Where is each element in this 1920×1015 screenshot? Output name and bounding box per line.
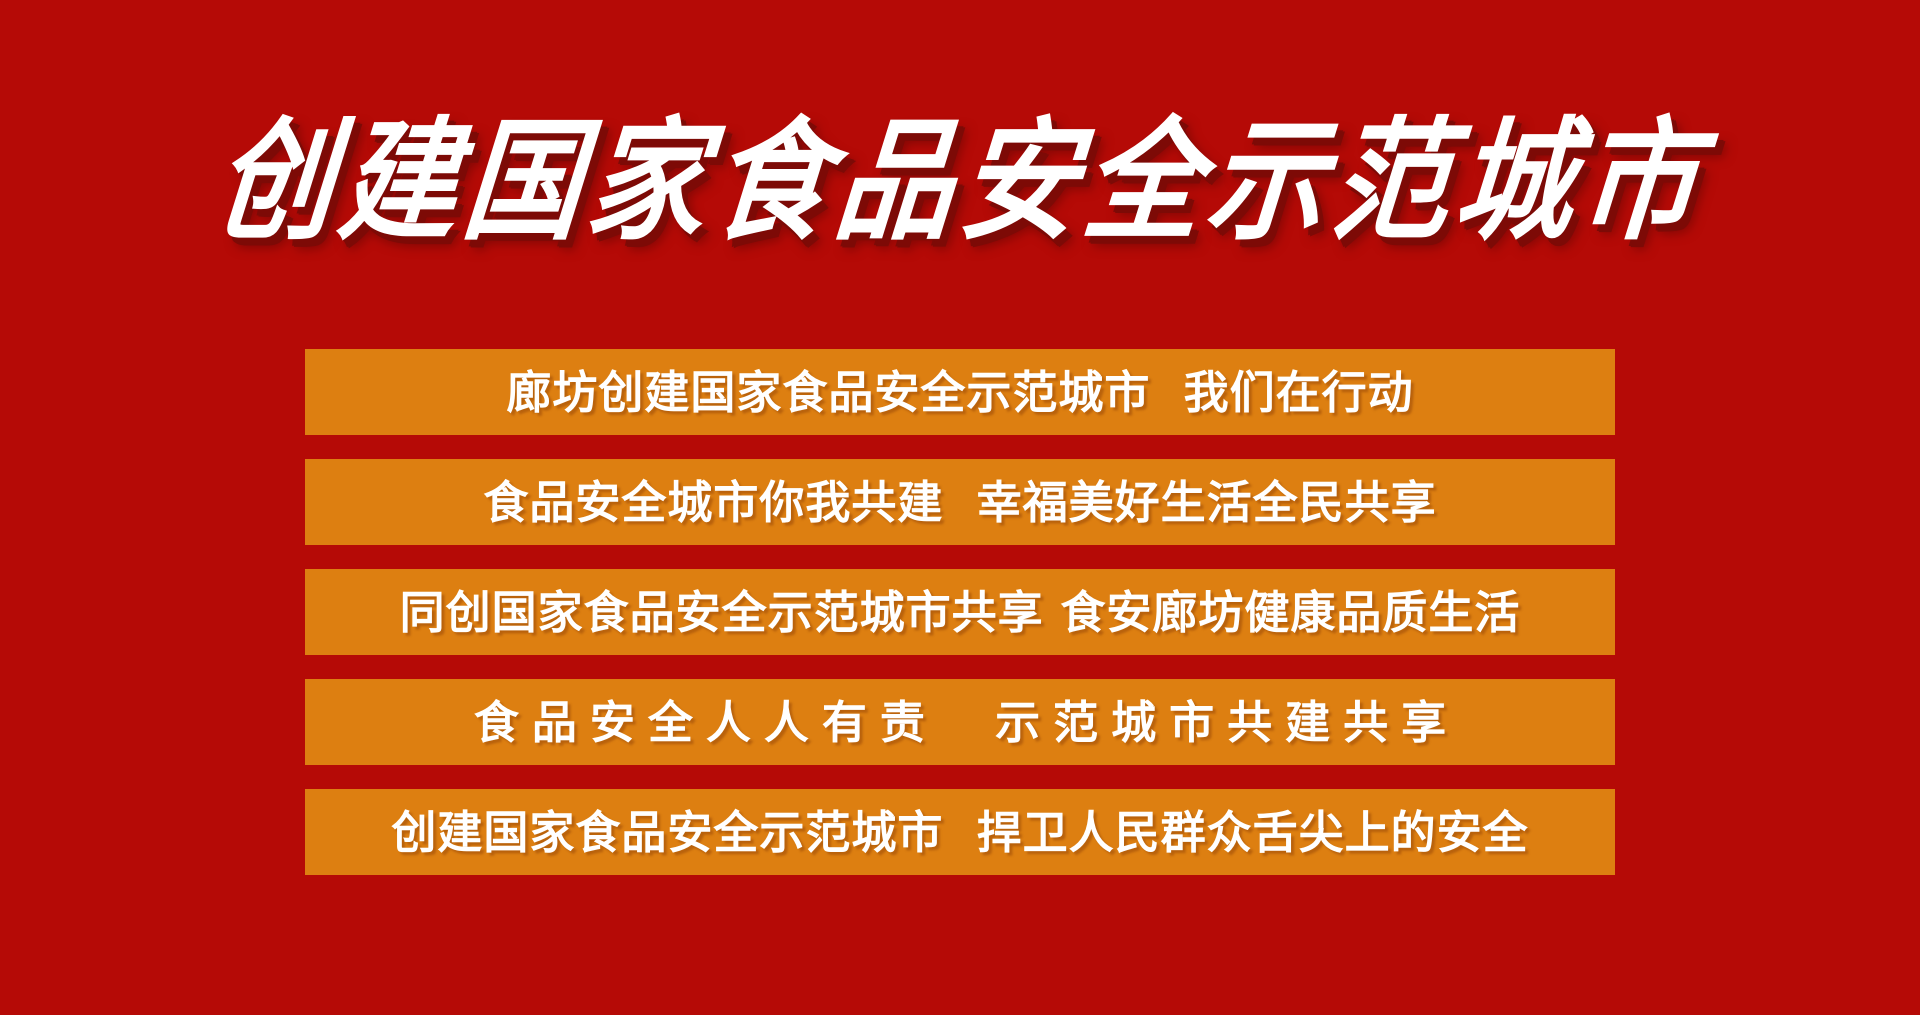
slogan-text: 食品安全城市你我共建 幸福美好生活全民共享: [483, 480, 1436, 525]
slogan-text: 廊坊创建国家食品安全示范城市 我们在行动: [506, 370, 1413, 415]
poster-title-block: 创建国家食品安全示范城市: [0, 96, 1920, 266]
slogan-text: 食品安全人人有责 示范城市共建共享: [461, 700, 1459, 745]
slogan-text: 创建国家食品安全示范城市 捍卫人民群众舌尖上的安全: [391, 810, 1528, 855]
slogan-bar: 食品安全人人有责 示范城市共建共享: [305, 679, 1615, 765]
slogan-bar: 食品安全城市你我共建 幸福美好生活全民共享: [305, 459, 1615, 545]
poster-canvas: 创建国家食品安全示范城市 廊坊创建国家食品安全示范城市 我们在行动 食品安全城市…: [0, 0, 1920, 1015]
slogan-bar: 创建国家食品安全示范城市 捍卫人民群众舌尖上的安全: [305, 789, 1615, 875]
slogan-text: 同创国家食品安全示范城市共享 食安廊坊健康品质生活: [400, 590, 1521, 635]
slogan-list: 廊坊创建国家食品安全示范城市 我们在行动 食品安全城市你我共建 幸福美好生活全民…: [305, 349, 1615, 875]
slogan-bar: 同创国家食品安全示范城市共享 食安廊坊健康品质生活: [305, 569, 1615, 655]
page-title: 创建国家食品安全示范城市: [210, 111, 1710, 251]
slogan-bar: 廊坊创建国家食品安全示范城市 我们在行动: [305, 349, 1615, 435]
